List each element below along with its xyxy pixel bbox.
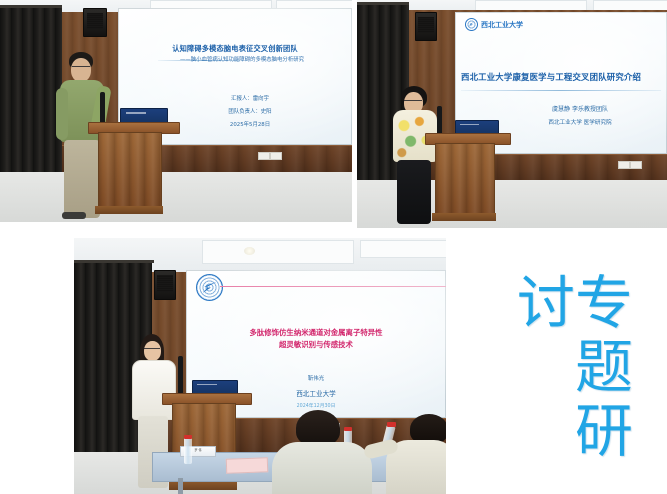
slide-title: 认知障碍多模态脑电表征交叉创新团队 [118, 44, 352, 54]
wall-speaker-icon [83, 8, 107, 37]
slide-title-line2: 超灵敏识别与传感技术 [186, 340, 446, 350]
microphone-icon [178, 356, 183, 394]
lectern-base [95, 206, 163, 214]
arm-left [56, 88, 68, 140]
slide-divider [461, 90, 661, 91]
glasses-icon [144, 348, 160, 352]
wall-speaker-icon [415, 12, 437, 41]
curtain-rail [357, 2, 409, 5]
ceiling-panel [202, 240, 354, 264]
slide-team-lead: 团队负责人：史阳 [180, 109, 320, 116]
audience-member [386, 414, 446, 494]
bottle-cap [184, 435, 192, 439]
photo-bottom: 多肽修饰仿生纳米通道对金属离子特异性 超灵敏识别与传感技术 靳伟光 西北工业大学… [74, 238, 446, 494]
lectern-body [435, 143, 495, 219]
wall-outlet-icon [630, 161, 642, 169]
head [71, 58, 91, 82]
torso [272, 442, 372, 494]
wall-outlet-icon [270, 152, 282, 160]
slide-affiliation: 西北工业大学 [248, 390, 384, 399]
water-bottle [184, 438, 192, 464]
slide-team: 虞慧静 李乐教授团队 [505, 106, 655, 114]
nwpu-logo-icon [465, 18, 478, 31]
photo-top-right: 西北工业大学 西北工业大学康复医学与工程交叉团队研究介绍 虞慧静 李乐教授团队 … [357, 0, 667, 228]
curtain-rail [0, 5, 62, 8]
ceiling-light-icon [244, 247, 255, 255]
slide-title-line1: 多肽修饰仿生纳米通道对金属离子特异性 [186, 328, 446, 338]
glasses-icon [72, 66, 90, 70]
wall-speaker-icon [154, 270, 176, 300]
slide-title: 西北工业大学康复医学与工程交叉团队研究介绍 [461, 72, 667, 83]
slide-date: 2025年5月28日 [180, 122, 320, 129]
slide-subtitle: ——脑小血管病认知功能障碍的多模态脑电分析研究 [118, 57, 352, 64]
wall-outlet-icon [258, 152, 270, 160]
head-back [296, 410, 340, 446]
shoe [62, 212, 86, 219]
table-leg [178, 478, 183, 494]
lectern-body [98, 132, 162, 212]
photo-top-left: 认知障碍多模态脑电表征交叉创新团队 ——脑小血管病认知功能障碍的多模态脑电分析研… [0, 0, 352, 222]
ceiling-panel [360, 240, 446, 258]
slide-presenter-name: 靳伟光 [248, 376, 384, 383]
audience-member [272, 410, 372, 494]
lectern-base [432, 213, 496, 221]
curtain-rail [74, 260, 154, 263]
legs [397, 160, 431, 224]
torso-white-coat [132, 360, 176, 420]
vertical-headline: 专题研讨 [512, 272, 628, 494]
nwpu-logo-text: 西北工业大学 [481, 20, 523, 30]
paper-sheet [226, 457, 268, 473]
slide-divider [220, 286, 446, 287]
wall-outlet-icon [618, 161, 630, 169]
nwpu-logo-icon [196, 274, 223, 301]
glasses-icon [404, 100, 422, 104]
slide-affiliation: 西北工业大学 医学研究院 [505, 120, 655, 128]
slide-reporter: 汇报人：雷向宇 [180, 96, 320, 103]
